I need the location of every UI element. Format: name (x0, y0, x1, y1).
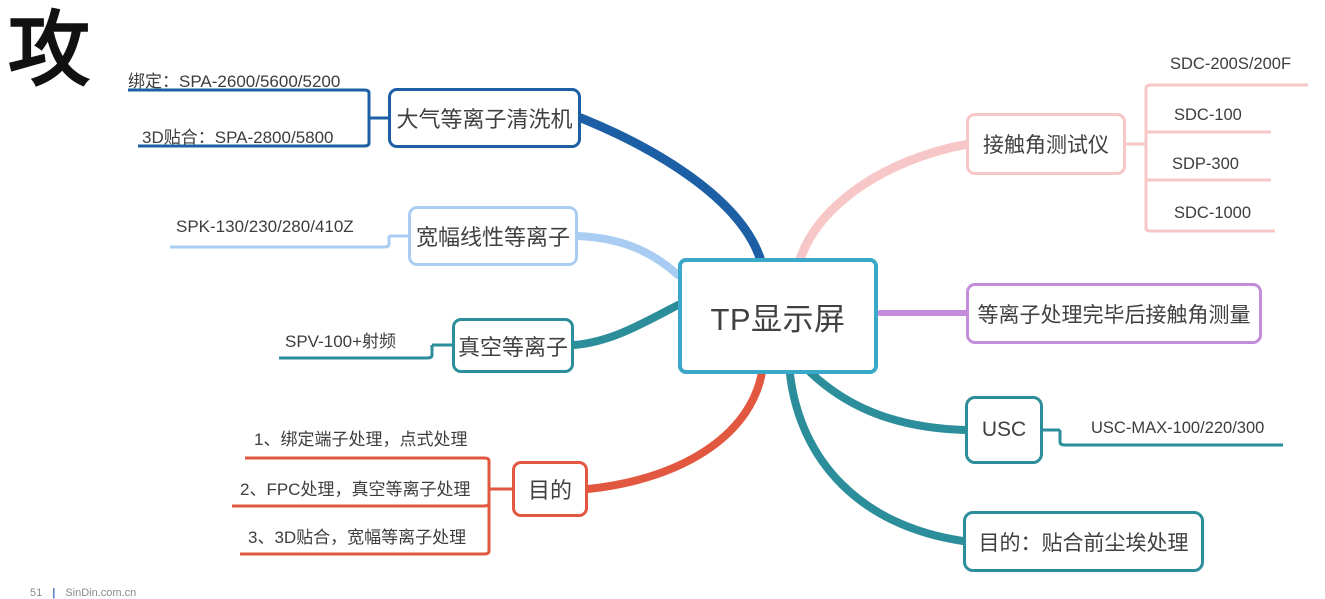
node-wide-linear-plasma[interactable]: 宽幅线性等离子 (408, 206, 578, 266)
leaf-sdc-100[interactable]: SDC-100 (1174, 104, 1242, 126)
node-atm-plasma-cleaner[interactable]: 大气等离子清洗机 (388, 88, 581, 148)
node-contact-angle-label: 接触角测试仪 (983, 129, 1109, 159)
edge-purpose-leaf-1 (245, 458, 489, 466)
watermark: 51 | SinDin.com.cn (30, 587, 136, 599)
node-wide-linear-label: 宽幅线性等离子 (416, 220, 570, 252)
leaf-purpose-1-label: 1、绑定端子处理，点式处理 (254, 425, 467, 450)
leaf-atm-3d-label: 3D贴合：SPA-2800/5800 (142, 123, 334, 148)
leaf-sdc-1000-label: SDC-1000 (1174, 204, 1251, 223)
node-post-measure-label: 等离子处理完毕后接触角测量 (978, 299, 1251, 329)
brand-character: 攻 (8, 10, 90, 92)
node-purpose[interactable]: 目的 (512, 461, 588, 517)
leaf-atm-binding-label: 绑定：SPA-2600/5600/5200 (128, 67, 340, 92)
watermark-separator: | (52, 587, 55, 599)
node-center-tp-display[interactable]: TP显示屏 (678, 258, 878, 374)
node-vacuum-plasma[interactable]: 真空等离子 (452, 318, 574, 373)
edge-center-to-wide-linear (578, 236, 678, 275)
node-dust-purpose-label: 目的：贴合前尘埃处理 (979, 527, 1189, 557)
leaf-wide-linear-spk[interactable]: SPK-130/230/280/410Z (176, 216, 354, 238)
edge-center-to-usc (810, 372, 965, 430)
leaf-purpose-2[interactable]: 2、FPC处理，真空等离子处理 (240, 476, 470, 498)
leaf-atm-binding[interactable]: 绑定：SPA-2600/5600/5200 (128, 68, 340, 90)
node-dust-purpose[interactable]: 目的：贴合前尘埃处理 (963, 511, 1204, 572)
leaf-purpose-2-label: 2、FPC处理，真空等离子处理 (240, 475, 470, 500)
edge-center-to-vacuum (574, 305, 678, 345)
leaf-sdc-200s-200f[interactable]: SDC-200S/200F (1170, 53, 1291, 75)
leaf-usc-max[interactable]: USC-MAX-100/220/300 (1091, 417, 1264, 439)
edge-center-to-atm-plasma (581, 118, 760, 258)
node-usc[interactable]: USC (965, 396, 1043, 464)
leaf-usc-max-label: USC-MAX-100/220/300 (1091, 419, 1264, 438)
leaf-vacuum-spv[interactable]: SPV-100+射频 (285, 328, 396, 350)
node-post-plasma-measure[interactable]: 等离子处理完毕后接触角测量 (966, 283, 1262, 344)
edge-center-to-dust-purpose (790, 374, 963, 541)
leaf-sdp-300[interactable]: SDP-300 (1172, 153, 1239, 175)
mindmap-canvas: 攻 TP显示屏 大气等离子清洗机 宽幅线性等离子 真空等离子 目的 接触角测试仪… (0, 0, 1325, 599)
edge-ca-leaf-1 (1146, 85, 1308, 92)
node-purpose-label: 目的 (528, 473, 572, 505)
leaf-purpose-1[interactable]: 1、绑定端子处理，点式处理 (254, 426, 467, 448)
edge-center-to-contact-angle (800, 144, 968, 260)
node-vacuum-plasma-label: 真空等离子 (458, 330, 568, 362)
node-usc-label: USC (982, 418, 1026, 442)
leaf-purpose-3-label: 3、3D贴合，宽幅等离子处理 (248, 523, 466, 548)
node-atm-plasma-label: 大气等离子清洗机 (396, 102, 572, 134)
leaf-wide-linear-spk-label: SPK-130/230/280/410Z (176, 217, 354, 237)
edge-center-to-purpose (588, 372, 762, 489)
watermark-site: SinDin.com.cn (65, 587, 136, 599)
leaf-sdc-100-label: SDC-100 (1174, 106, 1242, 125)
leaf-sdc-1000[interactable]: SDC-1000 (1174, 202, 1251, 224)
leaf-atm-3d-lamination[interactable]: 3D贴合：SPA-2800/5800 (142, 124, 334, 146)
leaf-sdc-200s-200f-label: SDC-200S/200F (1170, 55, 1291, 74)
leaf-sdp-300-label: SDP-300 (1172, 155, 1239, 174)
watermark-number: 51 (30, 587, 42, 599)
node-center-label: TP显示屏 (710, 294, 845, 339)
leaf-purpose-3[interactable]: 3、3D贴合，宽幅等离子处理 (248, 524, 466, 546)
node-contact-angle-tester[interactable]: 接触角测试仪 (966, 113, 1126, 175)
leaf-vacuum-spv-label: SPV-100+射频 (285, 327, 396, 352)
